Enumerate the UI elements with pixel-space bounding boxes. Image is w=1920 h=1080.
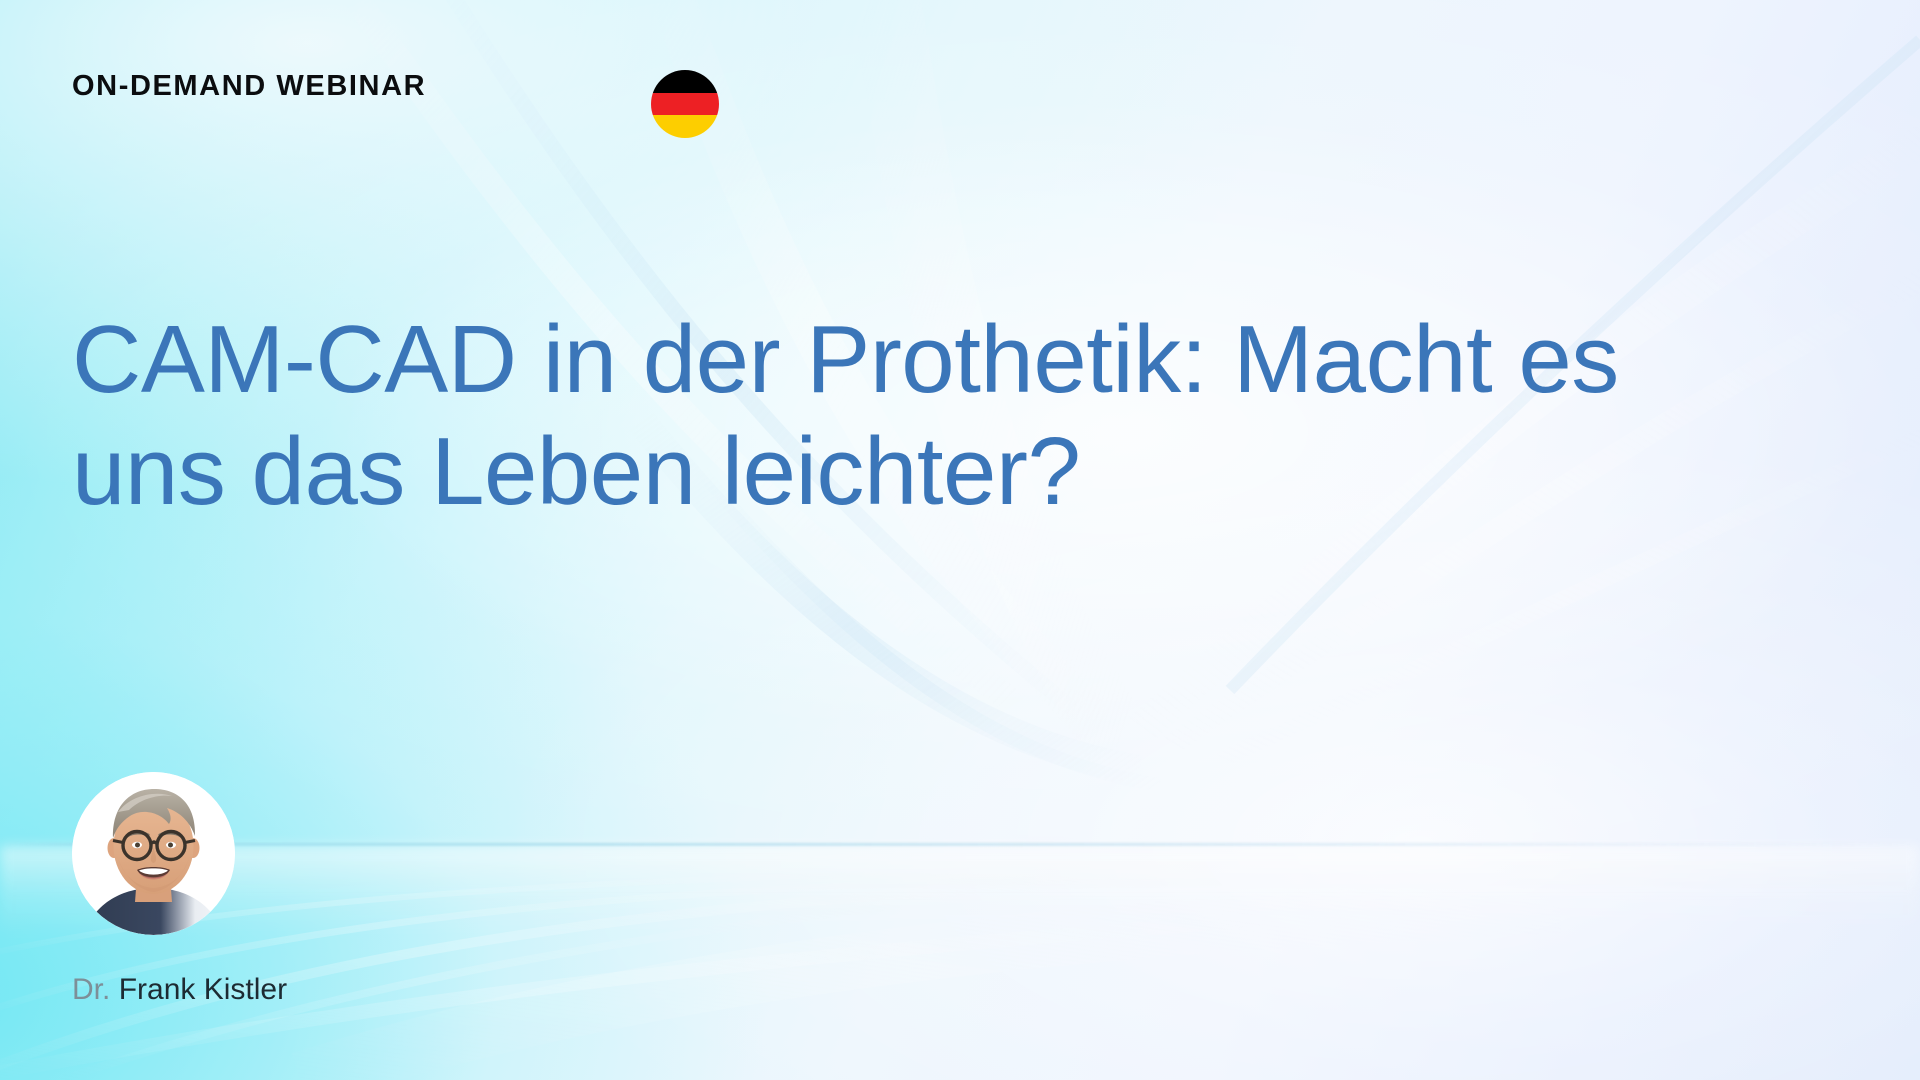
presenter-name-space: [110, 973, 118, 1006]
german-flag-circle-icon: [651, 70, 719, 138]
eyebrow-label: ON-DEMAND WEBINAR: [72, 72, 426, 101]
page-title-line-2: uns das Leben leichter?: [72, 416, 1832, 527]
presenter-honorific: Dr.: [72, 973, 110, 1006]
background-horizon-glow: [0, 846, 1920, 936]
flag-band-black: [651, 70, 719, 93]
page-title-line-1: CAM-CAD in der Prothetik: Macht es: [72, 304, 1832, 415]
flag-band-gold: [651, 115, 719, 138]
presenter-name: Dr. Frank Kistler: [72, 972, 287, 1008]
flag-band-red: [651, 93, 719, 116]
webinar-title-slide: ON-DEMAND WEBINAR CAM-CAD in der Prothet…: [0, 0, 1920, 1080]
page-title: CAM-CAD in der Prothetik: Macht es uns d…: [72, 304, 1832, 527]
presenter-fullname: Frank Kistler: [119, 973, 287, 1006]
avatar: [72, 772, 235, 935]
